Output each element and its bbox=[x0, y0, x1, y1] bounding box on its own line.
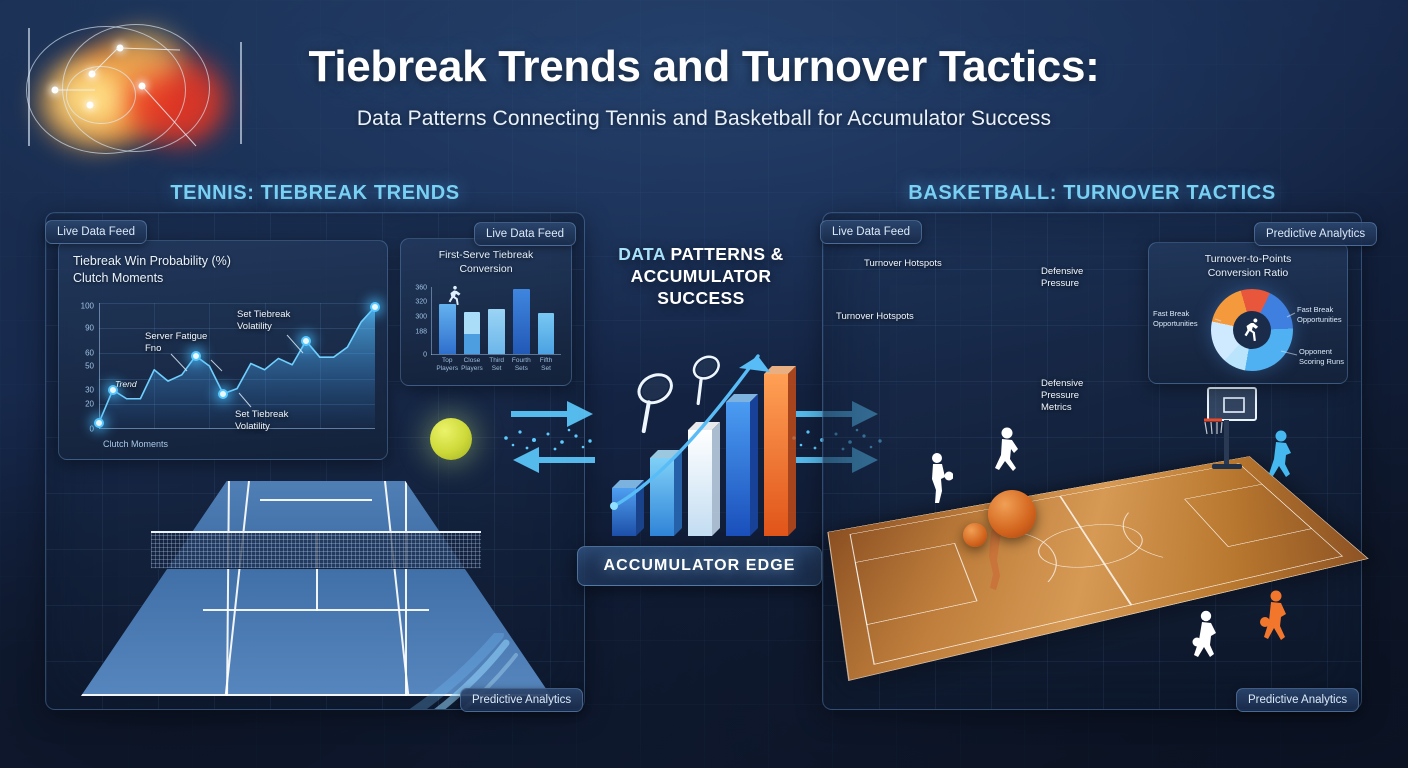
annotation-trend: Trend bbox=[115, 379, 137, 390]
center-caption: DATA PATTERNS & ACCUMULATOR SUCCESS bbox=[586, 244, 816, 310]
bar-ytick-360: 360 bbox=[415, 285, 427, 292]
line-ytick-30: 30 bbox=[85, 385, 94, 394]
bar-ytick-188: 188 bbox=[415, 328, 427, 335]
player-silhouette-orange bbox=[1258, 590, 1292, 644]
bar-label-2: Third Set bbox=[489, 357, 504, 373]
bar-3[interactable]: Fourth Sets bbox=[513, 289, 530, 354]
badge-predictive-analytics-donut[interactable]: Predictive Analytics bbox=[1254, 222, 1377, 246]
accumulator-edge-badge[interactable]: ACCUMULATOR EDGE bbox=[577, 546, 822, 586]
first-serve-conversion-chart: First-Serve Tiebreak Conversion 0 188 30… bbox=[400, 238, 572, 386]
donut-legend-left: Fast Break Opportunities bbox=[1153, 309, 1215, 328]
player-silhouette-blue bbox=[1265, 430, 1297, 482]
line-ytick-50: 50 bbox=[85, 362, 94, 371]
bar-label-3: Fourth Sets bbox=[512, 357, 531, 373]
hotspot-marker-4[interactable] bbox=[117, 45, 124, 52]
bar-label-4: Fifth Set bbox=[540, 357, 553, 373]
badge-live-data-feed-tennis[interactable]: Live Data Feed bbox=[45, 220, 147, 244]
line-chart-xlabel: Clutch Moments bbox=[103, 439, 168, 449]
heatmap-annotation-turnover-hotspots-2: Turnover Hotspots bbox=[836, 311, 914, 323]
basketball-icon-large bbox=[988, 490, 1036, 538]
bar-0[interactable]: Top Players bbox=[439, 304, 456, 354]
center-caption-line3: SUCCESS bbox=[657, 288, 744, 308]
bar-1[interactable]: Close Players bbox=[464, 312, 481, 354]
bar-chart-plot: 0 188 300 320 360 Top Players Close Play… bbox=[431, 287, 561, 355]
basketball-icon-small bbox=[963, 523, 987, 547]
runner-icon bbox=[444, 284, 466, 306]
line-chart-title-line1: Tiebreak Win Probability (%) bbox=[73, 254, 231, 268]
running-player-icon bbox=[1241, 317, 1263, 343]
line-marker-5[interactable] bbox=[370, 302, 380, 312]
badge-live-data-feed-bar[interactable]: Live Data Feed bbox=[474, 222, 576, 246]
annotation-set-volatility-top: Set Tiebreak Volatility bbox=[237, 309, 299, 333]
donut-chart-title-line2: Conversion Ratio bbox=[1208, 267, 1289, 279]
bar-chart-title-line2: Conversion bbox=[459, 263, 512, 275]
bar-4[interactable]: Fifth Set bbox=[538, 313, 555, 354]
line-ytick-100: 100 bbox=[81, 301, 94, 310]
line-marker-3[interactable] bbox=[218, 389, 228, 399]
line-ytick-0: 0 bbox=[90, 425, 94, 434]
annotation-set-volatility-bottom: Set Tiebreak Volatility bbox=[235, 409, 297, 433]
bar-ytick-0: 0 bbox=[423, 352, 427, 359]
hotspot-marker-2[interactable] bbox=[87, 102, 94, 109]
annotation-server-fatigue: Server Fatigue Fno bbox=[145, 331, 217, 355]
tennis-ball-icon bbox=[430, 418, 472, 460]
line-marker-0[interactable] bbox=[94, 418, 104, 428]
tiebreak-win-probability-chart: Tiebreak Win Probability (%) Clutch Mome… bbox=[58, 240, 388, 460]
tennis-net bbox=[151, 531, 481, 569]
data-particles-left bbox=[500, 418, 610, 458]
center-caption-line2: ACCUMULATOR bbox=[631, 266, 772, 286]
heatmap-annotation-defensive-pressure-metrics: Defensive Pressure Metrics bbox=[1041, 378, 1103, 414]
line-marker-4[interactable] bbox=[301, 336, 311, 346]
line-ytick-20: 20 bbox=[85, 399, 94, 408]
section-heading-basketball: BASKETBALL: TURNOVER TACTICS bbox=[822, 182, 1362, 205]
donut-legend-right-top: Fast Break Opportunities bbox=[1297, 305, 1348, 324]
tennis-court-surface bbox=[81, 481, 551, 696]
tennis-court bbox=[46, 481, 585, 710]
donut-legend-right-bottom: Opponent Scoring Runs bbox=[1299, 347, 1348, 366]
bar-chart-title-line1: First-Serve Tiebreak bbox=[439, 249, 534, 261]
bar-2[interactable]: Third Set bbox=[488, 309, 505, 354]
heatmap-annotation-turnover-hotspots-1: Turnover Hotspots bbox=[864, 258, 942, 270]
bar-chart-title: First-Serve Tiebreak Conversion bbox=[401, 249, 571, 277]
player-silhouette-white-2 bbox=[993, 427, 1027, 475]
badge-predictive-analytics-basketball[interactable]: Predictive Analytics bbox=[1236, 688, 1359, 712]
turnover-conversion-chart: Turnover-to-Points Conversion Ratio Fast… bbox=[1148, 242, 1348, 384]
basketball-hoop-icon bbox=[1182, 386, 1260, 472]
badge-predictive-analytics-tennis[interactable]: Predictive Analytics bbox=[460, 688, 583, 712]
bar-ytick-300: 300 bbox=[415, 313, 427, 320]
hotspot-marker-0[interactable] bbox=[89, 71, 96, 78]
badge-live-data-feed-basketball[interactable]: Live Data Feed bbox=[820, 220, 922, 244]
bar-label-0: Top Players bbox=[436, 357, 458, 373]
donut-chart-ring[interactable] bbox=[1211, 289, 1293, 371]
donut-chart-title-line1: Turnover-to-Points bbox=[1205, 253, 1292, 265]
turnover-hotspot-map bbox=[0, 0, 300, 200]
player-silhouette-white-3 bbox=[1192, 610, 1224, 662]
line-ytick-90: 90 bbox=[85, 324, 94, 333]
hotspot-marker-3[interactable] bbox=[139, 83, 146, 90]
line-chart-title: Tiebreak Win Probability (%) Clutch Mome… bbox=[73, 253, 231, 286]
player-silhouette-white-1 bbox=[925, 452, 953, 504]
heatmap-annotation-defensive-pressure: Defensive Pressure bbox=[1041, 266, 1103, 290]
bar-ytick-320: 320 bbox=[415, 298, 427, 305]
center-caption-highlight: DATA bbox=[618, 244, 665, 264]
line-ytick-60: 60 bbox=[85, 349, 94, 358]
center-caption-rest: PATTERNS & bbox=[665, 244, 783, 264]
line-chart-title-line2: Clutch Moments bbox=[73, 271, 163, 285]
bar-label-1: Close Players bbox=[461, 357, 483, 373]
hotspot-marker-1[interactable] bbox=[52, 87, 59, 94]
section-heading-tennis: TENNIS: TIEBREAK TRENDS bbox=[45, 182, 585, 205]
donut-chart-title: Turnover-to-Points Conversion Ratio bbox=[1149, 253, 1347, 281]
